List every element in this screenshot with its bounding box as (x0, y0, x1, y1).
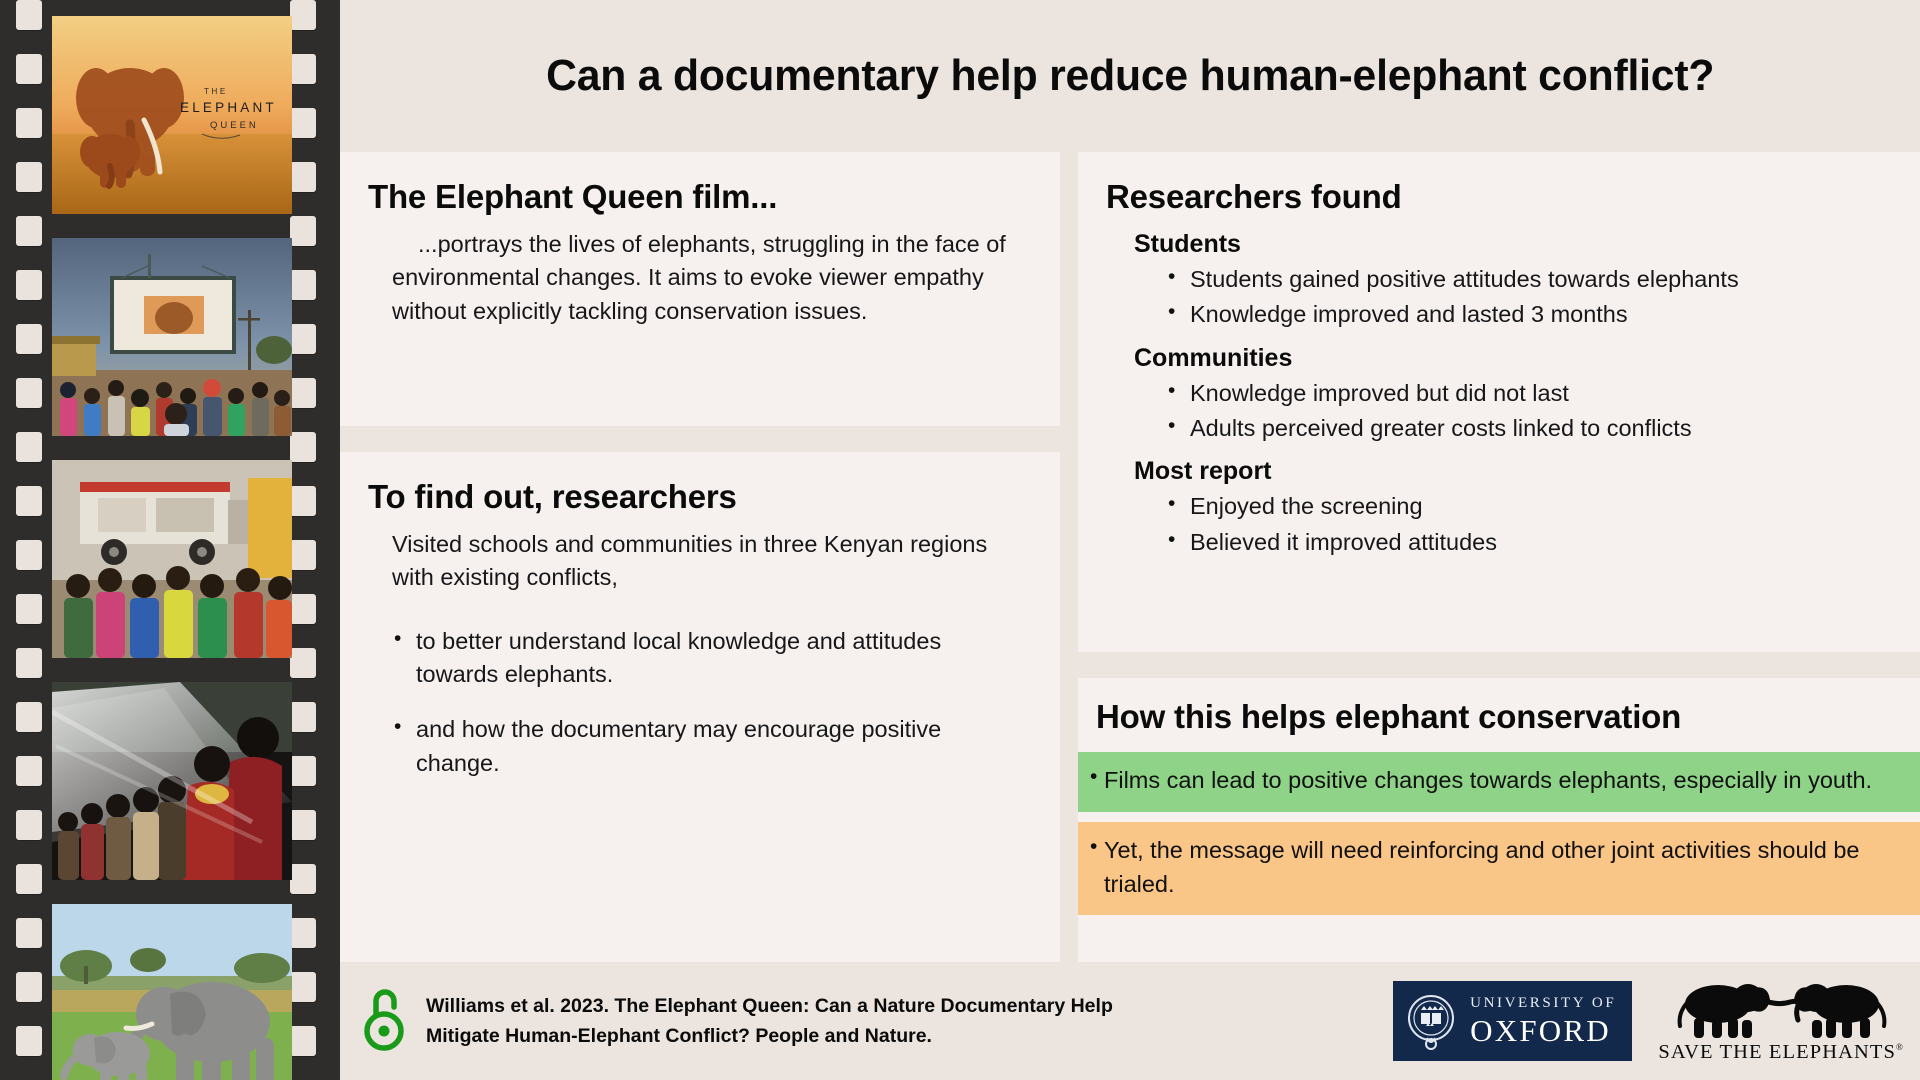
list-item: Adults perceived greater costs linked to… (1190, 412, 1886, 445)
film-sprocket-hole (290, 540, 316, 570)
svg-text:QUEEN: QUEEN (210, 120, 259, 131)
logo-group: UNIVERSITY OF OXFORD (1393, 978, 1904, 1064)
list-item: Believed it improved attitudes (1190, 526, 1886, 559)
film-sprocket-hole (290, 648, 316, 678)
film-sprocket-hole (16, 864, 42, 894)
card-methods: To find out, researchers Visited schools… (340, 452, 1060, 962)
oxford-line-2: OXFORD (1470, 1015, 1616, 1046)
findings-bullets: Enjoyed the screeningBelieved it improve… (1106, 490, 1886, 559)
citation: Williams et al. 2023. The Elephant Queen… (426, 991, 1113, 1051)
film-sprocket-hole (16, 54, 42, 84)
film-sprocket-hole (290, 972, 316, 1002)
card-divider-right (1078, 652, 1920, 678)
film-sprocket-hole (290, 810, 316, 840)
list-item: and how the documentary may encourage po… (416, 713, 1026, 780)
findings-subheading: Students (1106, 230, 1886, 259)
two-elephants-icon (1666, 978, 1896, 1040)
film-sprocket-hole (16, 0, 42, 30)
film-sprocket-hole (16, 216, 42, 246)
column-gutter (1060, 152, 1078, 962)
footer-bar: Williams et al. 2023. The Elephant Queen… (340, 962, 1920, 1080)
ste-trademark: ® (1896, 1042, 1904, 1052)
header-bar: Can a documentary help reduce human-elep… (340, 0, 1920, 152)
findings-subheading: Most report (1106, 457, 1886, 486)
film-sprocket-hole (16, 270, 42, 300)
film-sprocket-hole (16, 1026, 42, 1056)
film-sprockets-right (290, 0, 328, 1080)
film-frame-elephant-and-calf-grass (52, 904, 292, 1080)
film-sprocket-hole (16, 540, 42, 570)
open-access-icon (362, 985, 408, 1058)
film-sprocket-hole (16, 486, 42, 516)
film-sprocket-hole (290, 270, 316, 300)
card-methods-intro: Visited schools and communities in three… (368, 528, 1026, 595)
save-the-elephants-logo: SAVE THE ELEPHANTS® (1658, 978, 1904, 1064)
citation-line-1: Williams et al. 2023. The Elephant Queen… (426, 991, 1113, 1021)
content-columns: The Elephant Queen film... ...portrays t… (340, 152, 1920, 962)
film-sprocket-hole (290, 324, 316, 354)
findings-bullets: Knowledge improved but did not lastAdult… (1106, 377, 1886, 446)
card-implications: How this helps elephant conservation Fil… (1078, 678, 1920, 962)
film-sprocket-hole (16, 162, 42, 192)
film-sprocket-hole (16, 756, 42, 786)
film-sprocket-hole (16, 702, 42, 732)
film-sprocket-hole (16, 324, 42, 354)
film-sprocket-hole (290, 216, 316, 246)
card-findings-heading: Researchers found (1106, 178, 1886, 216)
film-sprocket-hole (290, 756, 316, 786)
film-sprocket-hole (16, 810, 42, 840)
findings-bullets: Students gained positive attitudes towar… (1106, 263, 1886, 332)
film-sprocket-hole (16, 648, 42, 678)
page-title: Can a documentary help reduce human-elep… (546, 51, 1714, 101)
left-column: The Elephant Queen film... ...portrays t… (340, 152, 1060, 962)
card-divider-left (340, 426, 1060, 452)
film-frame-children-watching-truck-screen (52, 460, 292, 658)
svg-text:THE: THE (204, 87, 228, 96)
list-item: Knowledge improved and lasted 3 months (1190, 298, 1886, 331)
card-methods-bullets: to better understand local knowledge and… (368, 625, 1026, 780)
list-item: Knowledge improved but did not last (1190, 377, 1886, 410)
film-sprocket-hole (290, 594, 316, 624)
film-frame-elephant-queen-poster: THE ELEPHANT QUEEN (52, 16, 292, 214)
film-sprocket-hole (16, 432, 42, 462)
film-sprocket-hole (290, 918, 316, 948)
card-findings: Researchers found StudentsStudents gaine… (1078, 152, 1920, 652)
highlight-positive: Films can lead to positive changes towar… (1078, 752, 1920, 812)
film-sprocket-hole (16, 108, 42, 138)
film-frame-outdoor-screening-crowd (52, 238, 292, 436)
oxford-line-1: UNIVERSITY OF (1470, 996, 1616, 1011)
film-sprocket-hole (16, 972, 42, 1002)
film-sprocket-hole (16, 594, 42, 624)
film-sprocket-hole (16, 918, 42, 948)
card-film-description: The Elephant Queen film... ...portrays t… (340, 152, 1060, 426)
card-film-body: ...portrays the lives of elephants, stru… (368, 228, 1026, 328)
highlight-gap (1078, 812, 1920, 822)
film-frame-indoor-audience-light-beam (52, 682, 292, 880)
citation-line-2: Mitigate Human-Elephant Conflict? People… (426, 1021, 1113, 1051)
list-item: to better understand local knowledge and… (416, 625, 1026, 692)
film-strip: THE ELEPHANT QUEEN (0, 0, 340, 1080)
list-item: Enjoyed the screening (1190, 490, 1886, 523)
card-film-heading: The Elephant Queen film... (368, 178, 1026, 216)
highlight-caution: Yet, the message will need reinforcing a… (1078, 822, 1920, 916)
university-of-oxford-logo: UNIVERSITY OF OXFORD (1393, 981, 1632, 1061)
film-sprocket-hole (290, 486, 316, 516)
film-sprocket-hole (16, 378, 42, 408)
film-sprocket-hole (290, 1026, 316, 1056)
findings-subheading: Communities (1106, 344, 1886, 373)
card-implications-heading: How this helps elephant conservation (1078, 698, 1920, 736)
film-sprocket-hole (290, 864, 316, 894)
ste-text: SAVE THE ELEPHANTS (1658, 1041, 1896, 1063)
card-methods-heading: To find out, researchers (368, 478, 1026, 516)
film-sprocket-hole (290, 54, 316, 84)
oxford-crest-icon (1403, 990, 1459, 1052)
list-item: Students gained positive attitudes towar… (1190, 263, 1886, 296)
film-sprocket-hole (290, 108, 316, 138)
implication-highlights: Films can lead to positive changes towar… (1078, 752, 1920, 915)
findings-groups: StudentsStudents gained positive attitud… (1106, 230, 1886, 559)
film-sprockets-left (12, 0, 50, 1080)
save-the-elephants-wordmark: SAVE THE ELEPHANTS® (1658, 1041, 1904, 1064)
film-sprocket-hole (290, 432, 316, 462)
film-sprocket-hole (290, 162, 316, 192)
film-sprocket-hole (290, 702, 316, 732)
right-column: Researchers found StudentsStudents gaine… (1078, 152, 1920, 962)
film-sprocket-hole (290, 0, 316, 30)
film-sprocket-hole (290, 378, 316, 408)
svg-text:ELEPHANT: ELEPHANT (180, 100, 277, 115)
film-frames: THE ELEPHANT QUEEN (52, 16, 292, 1080)
infographic-page: THE ELEPHANT QUEEN (0, 0, 1920, 1080)
